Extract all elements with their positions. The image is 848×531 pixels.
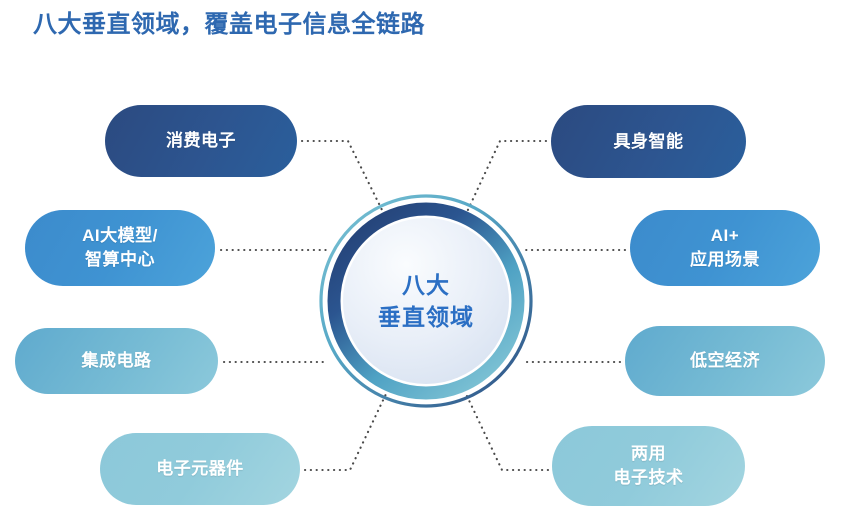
node-electronic-components[interactable]: 电子元器件 bbox=[100, 433, 300, 505]
node-label: 集成电路 bbox=[82, 349, 152, 373]
node-label: AI+ 应用场景 bbox=[690, 224, 760, 272]
node-ai-plus[interactable]: AI+ 应用场景 bbox=[630, 210, 820, 286]
node-low-altitude[interactable]: 低空经济 bbox=[625, 326, 825, 396]
node-label: 电子元器件 bbox=[156, 457, 244, 481]
node-label: 两用 电子技术 bbox=[614, 442, 684, 490]
node-dual-use[interactable]: 两用 电子技术 bbox=[552, 426, 745, 506]
slide-canvas: 八大垂直领域，覆盖电子信息全链路 bbox=[0, 0, 848, 531]
node-integrated-circuit[interactable]: 集成电路 bbox=[15, 328, 218, 394]
hub-label-line2: 垂直领域 bbox=[378, 301, 474, 333]
hub-label-line1: 八大 bbox=[402, 269, 450, 301]
node-label: 具身智能 bbox=[614, 130, 684, 154]
node-ai-model[interactable]: AI大模型/ 智算中心 bbox=[25, 210, 215, 286]
hub-label: 八大 垂直领域 bbox=[318, 193, 534, 409]
center-hub: 八大 垂直领域 bbox=[318, 193, 534, 409]
node-embodied-ai[interactable]: 具身智能 bbox=[551, 105, 746, 178]
node-label: AI大模型/ 智算中心 bbox=[82, 224, 158, 272]
page-title: 八大垂直领域，覆盖电子信息全链路 bbox=[33, 8, 425, 42]
node-label: 低空经济 bbox=[690, 349, 760, 373]
node-label: 消费电子 bbox=[166, 129, 236, 153]
node-consumer-electronics[interactable]: 消费电子 bbox=[105, 105, 297, 177]
